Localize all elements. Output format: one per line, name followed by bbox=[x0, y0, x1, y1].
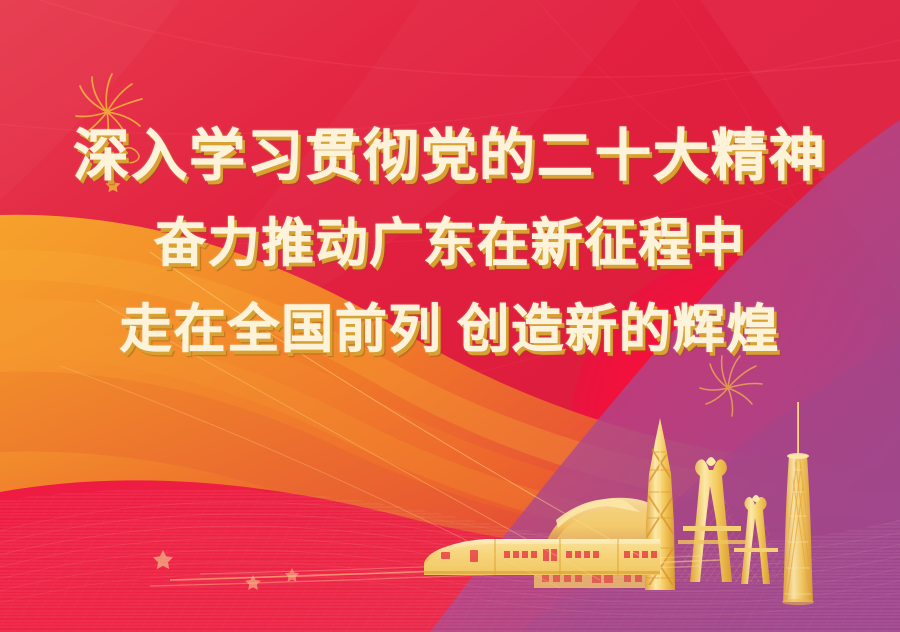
poster-canvas: 深入学习贯彻党的二十大精神 奋力推动广东在新征程中 走在全国前列 创造新的辉煌 … bbox=[0, 0, 900, 632]
background-artwork bbox=[0, 0, 900, 632]
